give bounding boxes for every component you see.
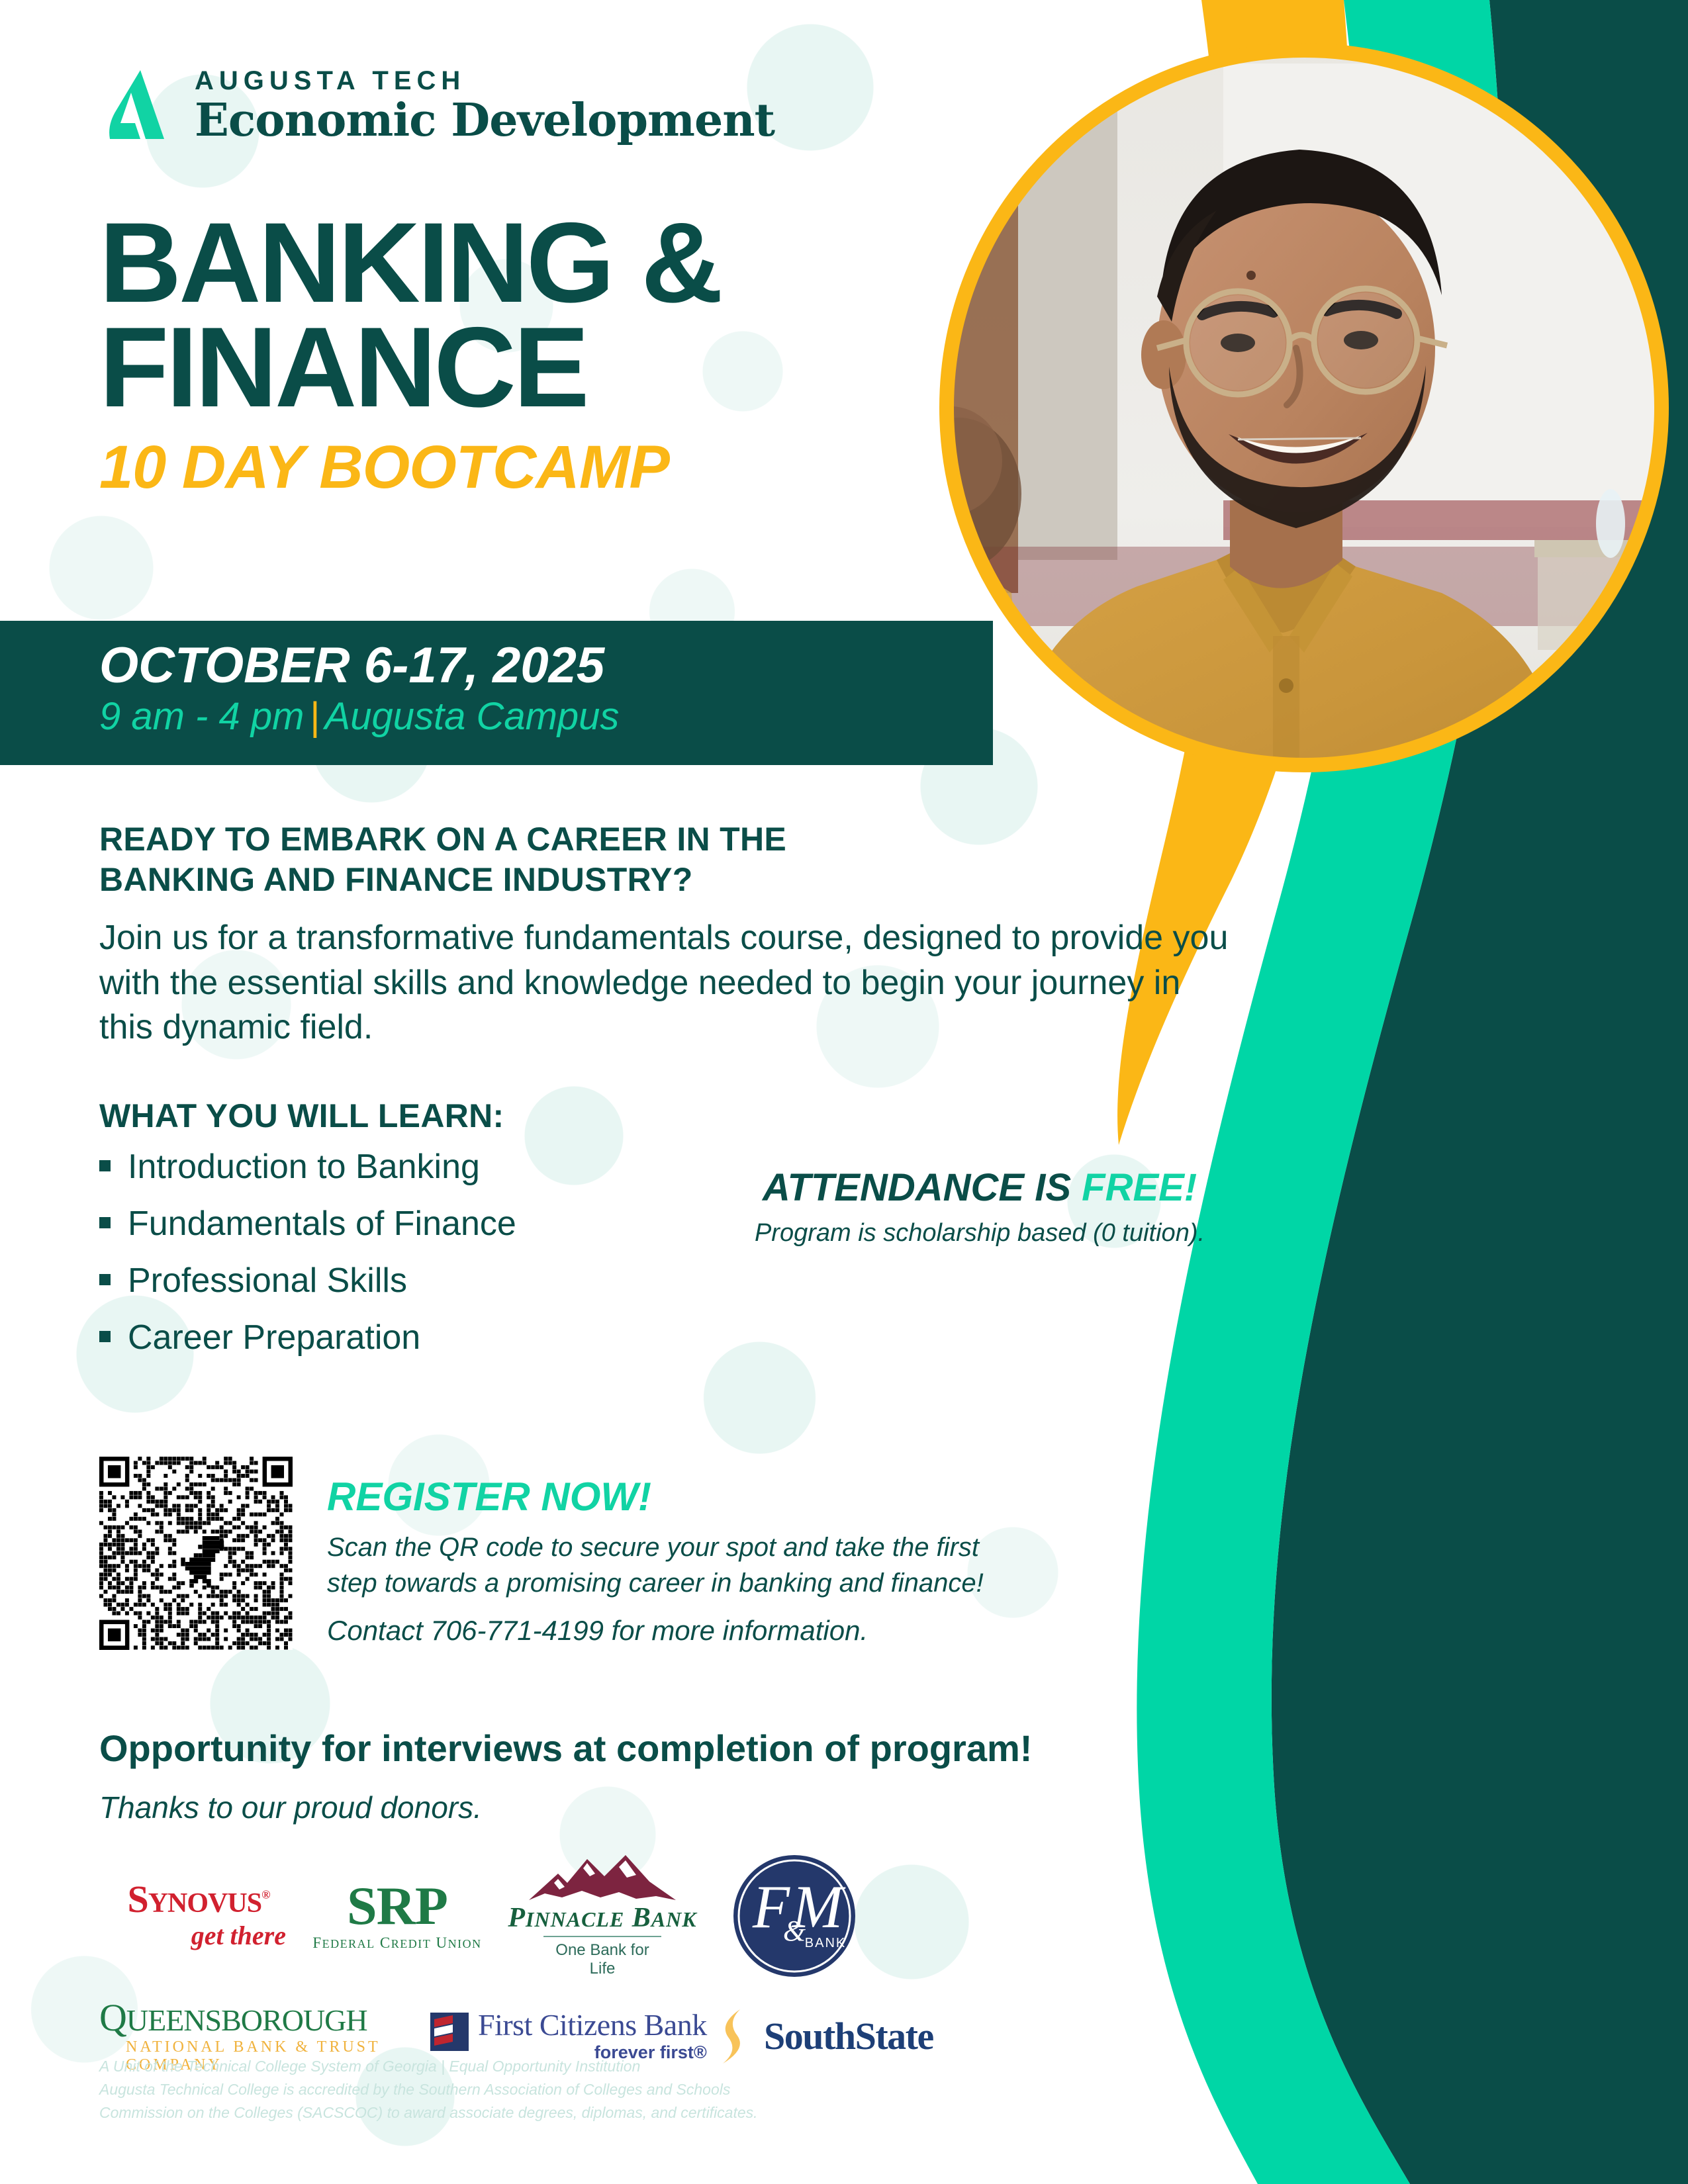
mountain-icon	[526, 1854, 679, 1903]
footer-line-1: A Unit of the Technical College System o…	[99, 2055, 1026, 2078]
learn-list: Introduction to Banking Fundamentals of …	[99, 1150, 722, 1355]
attendance-headline: ATTENDANCE IS FREE!	[722, 1165, 1238, 1210]
list-item-label: Fundamentals of Finance	[128, 1206, 516, 1241]
list-item-label: Career Preparation	[128, 1320, 420, 1355]
srp-wordmark: SRP	[298, 1880, 496, 1932]
list-item: Career Preparation	[99, 1320, 722, 1355]
intro-eyebrow-line-1: READY TO EMBARK ON A CAREER IN THE	[99, 819, 1238, 860]
attendance-headline-prefix: ATTENDANCE IS	[763, 1166, 1082, 1209]
register-body-line-2: step towards a promising career in banki…	[327, 1566, 1238, 1600]
donors-lead: Thanks to our proud donors.	[99, 1790, 1238, 1825]
bullet-icon	[99, 1274, 111, 1285]
attendance-column: ATTENDANCE IS FREE! Program is scholarsh…	[722, 1097, 1238, 1377]
donor-logo-row-1: SYNOVUS® get there SRP FEDERAL CREDIT UN…	[99, 1853, 1238, 1979]
learn-column: WHAT YOU WILL LEARN: Introduction to Ban…	[99, 1097, 722, 1377]
main-content: READY TO EMBARK ON A CAREER IN THE BANKI…	[99, 819, 1238, 2074]
register-column: REGISTER NOW! Scan the QR code to secure…	[327, 1457, 1238, 1647]
pinnacle-tagline: One Bank for Life	[543, 1936, 661, 1978]
donor-logo-pinnacle-bank: PINNACLE BANK One Bank for Life	[496, 1854, 708, 1978]
register-heading: REGISTER NOW!	[327, 1474, 1238, 1520]
bullet-icon	[99, 1160, 111, 1171]
register-contact: Contact 706-771-4199 for more informatio…	[327, 1615, 1238, 1647]
event-time-location: 9 am - 4 pm|Augusta Campus	[99, 695, 993, 739]
list-item-label: Professional Skills	[128, 1263, 407, 1298]
register-row: REGISTER NOW! Scan the QR code to secure…	[99, 1457, 1238, 1650]
separator: |	[304, 695, 324, 738]
hero-line-2: FINANCE	[99, 315, 721, 420]
date-banner: OCTOBER 6-17, 2025 9 am - 4 pm|Augusta C…	[0, 621, 993, 765]
student-photo	[939, 37, 1669, 900]
attendance-note: Program is scholarship based (0 tuition)…	[722, 1219, 1238, 1248]
first-citizens-wordmark: First Citizens Bank	[478, 2010, 707, 2040]
svg-text:&: &	[783, 1915, 806, 1947]
learn-heading: WHAT YOU WILL LEARN:	[99, 1097, 722, 1135]
augusta-tech-a-icon	[106, 69, 179, 140]
list-item-label: Introduction to Banking	[128, 1150, 480, 1184]
opportunity-headline: Opportunity for interviews at completion…	[99, 1727, 1238, 1770]
pinnacle-wordmark: PINNACLE BANK	[496, 1904, 708, 1932]
svg-text:BANK: BANK	[805, 1936, 846, 1950]
srp-tagline: FEDERAL CREDIT UNION	[298, 1934, 496, 1952]
attendance-headline-highlight: FREE!	[1082, 1166, 1197, 1209]
donor-logo-srp: SRP FEDERAL CREDIT UNION	[298, 1880, 496, 1952]
bullet-icon	[99, 1217, 111, 1228]
learn-and-attendance-block: WHAT YOU WILL LEARN: Introduction to Ban…	[99, 1097, 1238, 1377]
footer-line-2: Augusta Technical College is accredited …	[99, 2078, 1026, 2101]
southstate-wordmark: SouthState	[764, 2017, 933, 2056]
event-location: Augusta Campus	[325, 695, 620, 738]
first-citizens-flag-icon	[430, 2013, 469, 2051]
qr-code[interactable]	[99, 1457, 293, 1650]
fm-bank-seal-icon: F M & BANK	[731, 1853, 857, 1979]
donor-logo-synovus: SYNOVUS® get there	[99, 1880, 298, 1951]
queensborough-wordmark: QUEENSBOROUGH	[99, 1999, 430, 2037]
hero-subtitle: 10 DAY BOOTCAMP	[99, 437, 721, 498]
hero-line-1: BANKING &	[99, 210, 721, 315]
footer-line-3: Commission on the Colleges (SACSCOC) to …	[99, 2101, 1026, 2124]
register-body-line-1: Scan the QR code to secure your spot and…	[327, 1530, 1238, 1565]
brand-title: Economic Development	[195, 98, 774, 143]
brand-kicker: AUGUSTA TECH	[195, 66, 774, 95]
list-item: Professional Skills	[99, 1263, 722, 1298]
event-time: 9 am - 4 pm	[99, 695, 304, 738]
qr-code-canvas[interactable]	[99, 1457, 293, 1650]
list-item: Introduction to Banking	[99, 1150, 722, 1184]
event-dates: OCTOBER 6-17, 2025	[99, 639, 993, 692]
synovus-tagline: get there	[99, 1920, 298, 1951]
hero-headline: BANKING & FINANCE 10 DAY BOOTCAMP	[99, 210, 721, 498]
synovus-wordmark: SYNOVUS®	[99, 1880, 298, 1919]
brand-lockup: AUGUSTA TECH Economic Development	[106, 66, 774, 143]
intro-eyebrow-line-2: BANKING AND FINANCE INDUSTRY?	[99, 860, 1238, 900]
donor-logo-fm-bank: F M & BANK	[708, 1853, 880, 1979]
list-item: Fundamentals of Finance	[99, 1206, 722, 1241]
footer-disclaimer: A Unit of the Technical College System o…	[99, 2055, 1026, 2124]
bullet-icon	[99, 1331, 111, 1342]
intro-paragraph: Join us for a transformative fundamental…	[99, 916, 1238, 1050]
